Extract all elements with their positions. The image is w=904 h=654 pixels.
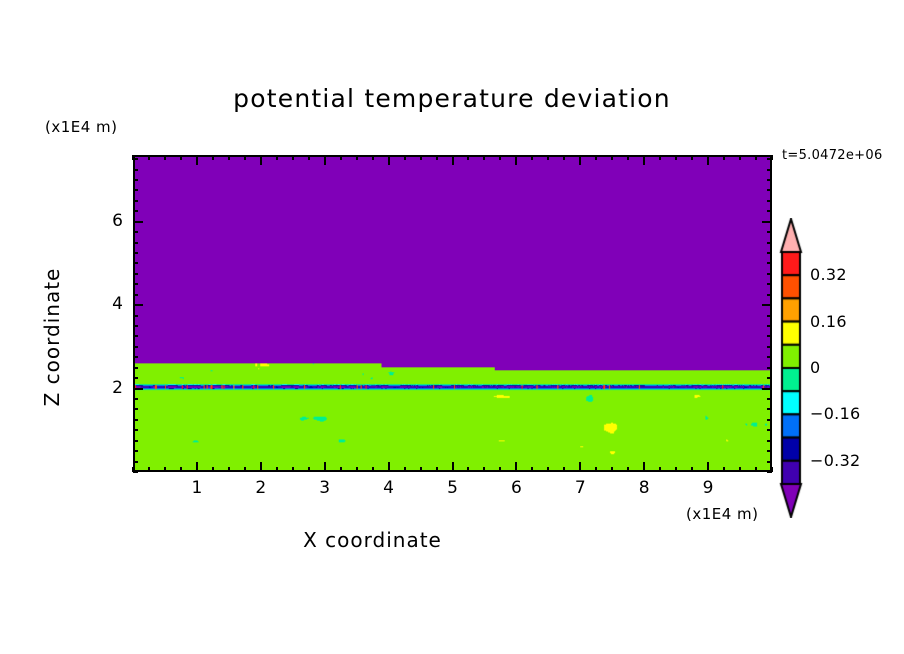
x-axis-title: X coordinate [0,528,745,552]
x-tick-top [436,155,438,160]
y-tick [133,440,138,442]
x-tick-top [467,155,469,160]
x-tick [739,467,741,472]
y-tick-right [767,461,772,463]
y-tick-right [767,242,772,244]
x-tick [148,467,150,472]
colorbar-tick-label: −0.32 [810,451,861,470]
y-tick [133,252,138,254]
x-tick-top [499,155,501,160]
x-tick-top [148,155,150,160]
y-tick-right [767,189,772,191]
x-tick [244,467,246,472]
x-tick-top [595,155,597,160]
x-tick-top [611,155,613,160]
figure-root: potential temperature deviation (x1E4 m)… [0,0,904,654]
x-tick-top [515,155,517,165]
x-tick [212,467,214,472]
x-tick [404,467,406,472]
colorbar-tick-label: 0 [810,358,820,377]
x-tick-top [388,155,390,165]
colorbar-canvas [779,218,803,518]
y-axis-title: Z coordinate [40,222,64,452]
y-tick-right [767,315,772,317]
y-tick [133,450,138,452]
x-tick-top [707,155,709,165]
x-tick-top [292,155,294,160]
y-tick [133,461,138,463]
x-tick-label: 1 [177,478,217,498]
y-tick-right [767,262,772,264]
y-tick [133,398,138,400]
x-tick-top [404,155,406,160]
y-tick [133,262,138,264]
y-tick-right [767,346,772,348]
y-tick-right [767,169,772,171]
y-tick [133,189,138,191]
x-tick [196,462,198,472]
x-tick-top [755,155,757,160]
x-tick [579,462,581,472]
x-tick [531,467,533,472]
y-tick-right [767,179,772,181]
x-tick [675,467,677,472]
x-tick-top [340,155,342,160]
y-tick-right [767,200,772,202]
x-tick-top [324,155,326,165]
y-tick [133,221,143,223]
x-tick-top [675,155,677,160]
x-tick-label: 9 [688,478,728,498]
x-tick [467,467,469,472]
x-tick-top [483,155,485,160]
x-tick [324,462,326,472]
x-tick-top [659,155,661,160]
x-tick-label: 4 [369,478,409,498]
time-stamp-label: t=5.0472e+06 [782,148,883,163]
y-tick-right [767,429,772,431]
x-axis-units-label: (x1E4 m) [686,505,759,523]
y-tick-right [767,231,772,233]
x-tick [340,467,342,472]
x-tick [308,467,310,472]
x-tick [372,467,374,472]
colorbar[interactable] [779,218,803,518]
x-tick [483,467,485,472]
y-tick [133,200,138,202]
x-tick-top [531,155,533,160]
x-tick [755,467,757,472]
y-tick-right [767,471,772,473]
x-tick-top [372,155,374,160]
y-tick-right [767,273,772,275]
y-tick-right [762,304,772,306]
x-tick-label: 3 [305,478,345,498]
y-tick [133,346,138,348]
x-tick-top [212,155,214,160]
x-tick [388,462,390,472]
x-tick-top [723,155,725,160]
x-tick-top [308,155,310,160]
y-tick [133,325,138,327]
x-tick-label: 5 [433,478,473,498]
x-tick-top [452,155,454,165]
y-tick-right [767,158,772,160]
x-tick [436,467,438,472]
y-tick-right [767,283,772,285]
x-tick-top [244,155,246,160]
x-tick-top [260,155,262,165]
y-tick-label: 2 [95,378,123,398]
y-tick [133,158,138,160]
y-axis-units-label: (x1E4 m) [45,118,118,136]
y-tick-right [767,440,772,442]
y-tick-right [767,398,772,400]
y-tick-right [762,221,772,223]
y-tick [133,335,138,337]
y-tick [133,210,138,212]
y-tick-right [767,419,772,421]
x-tick [611,467,613,472]
x-tick [723,467,725,472]
x-tick [707,462,709,472]
y-tick [133,304,143,306]
x-tick [260,462,262,472]
y-tick [133,315,138,317]
y-tick-right [767,356,772,358]
y-tick-right [767,450,772,452]
y-tick [133,419,138,421]
y-tick-label: 4 [95,294,123,314]
x-tick [659,467,661,472]
y-tick [133,408,138,410]
x-tick [515,462,517,472]
y-tick-right [767,210,772,212]
y-tick [133,179,138,181]
y-tick [133,242,138,244]
x-tick [164,467,166,472]
contour-field-canvas [135,157,770,470]
y-tick [133,377,138,379]
x-tick-top [691,155,693,160]
y-tick [133,273,138,275]
x-tick-label: 6 [496,478,536,498]
x-tick-label: 7 [560,478,600,498]
x-tick [452,462,454,472]
x-tick-top [643,155,645,165]
y-tick [133,388,143,390]
x-tick [499,467,501,472]
x-tick [180,467,182,472]
x-tick [356,467,358,472]
x-tick-top [164,155,166,160]
x-tick [691,467,693,472]
x-tick-top [196,155,198,165]
y-tick [133,294,138,296]
y-tick [133,471,138,473]
y-tick [133,231,138,233]
x-tick-top [739,155,741,160]
x-tick [292,467,294,472]
x-tick-top [180,155,182,160]
x-tick [420,467,422,472]
page-title: potential temperature deviation [0,84,904,113]
contour-plot-area[interactable] [133,155,772,472]
y-tick [133,367,138,369]
y-tick [133,429,138,431]
colorbar-tick-label: 0.16 [810,312,847,331]
x-tick-top [579,155,581,165]
x-tick-top [356,155,358,160]
x-tick-top [547,155,549,160]
y-tick [133,169,138,171]
y-tick-right [767,294,772,296]
x-tick [627,467,629,472]
y-tick-right [767,408,772,410]
y-tick-right [767,367,772,369]
x-tick [563,467,565,472]
y-tick-right [767,377,772,379]
x-tick-top [420,155,422,160]
x-tick-top [228,155,230,160]
y-tick-right [767,325,772,327]
y-tick [133,356,138,358]
x-tick [643,462,645,472]
x-tick [547,467,549,472]
x-tick-top [276,155,278,160]
y-tick-right [767,252,772,254]
colorbar-tick-label: 0.32 [810,265,847,284]
x-tick-label: 2 [241,478,281,498]
x-tick [595,467,597,472]
y-tick-right [762,388,772,390]
y-tick [133,283,138,285]
y-tick-label: 6 [95,211,123,231]
x-tick-top [627,155,629,160]
x-tick-label: 8 [624,478,664,498]
colorbar-tick-label: −0.16 [810,404,861,423]
x-tick-top [563,155,565,160]
x-tick [276,467,278,472]
x-tick [228,467,230,472]
y-tick-right [767,335,772,337]
